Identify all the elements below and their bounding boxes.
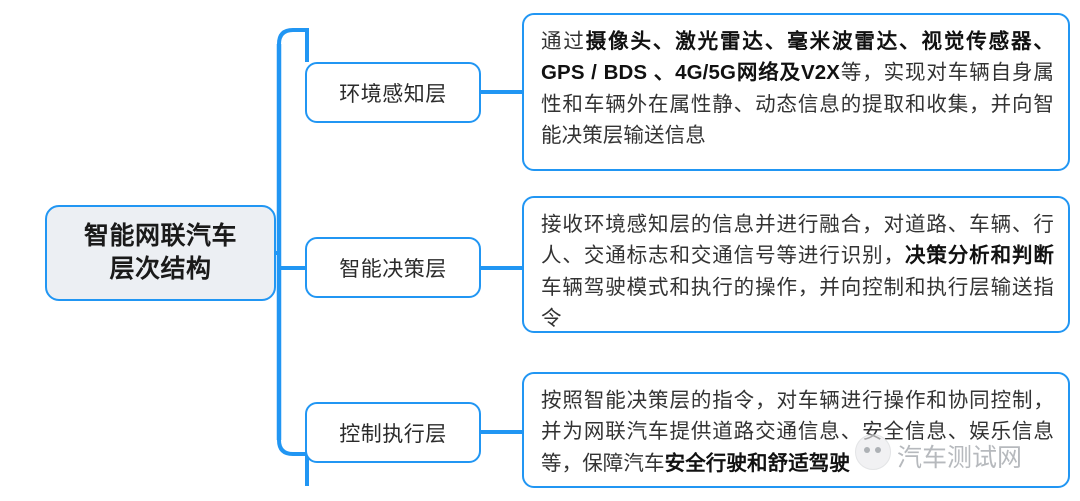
mindmap-canvas: 智能网联汽车层次结构 环境感知层 智能决策层 控制执行层 通过摄像头、激光雷达、… <box>0 0 1080 501</box>
description-box-control[interactable]: 按照智能决策层的指令，对车辆进行操作和协同控制，并为网联汽车提供道路交通信息、安… <box>522 372 1070 488</box>
description-text: 按照智能决策层的指令，对车辆进行操作和协同控制，并为网联汽车提供道路交通信息、安… <box>541 385 1054 479</box>
layer-node-control[interactable]: 控制执行层 <box>305 402 481 463</box>
description-text: 接收环境感知层的信息并进行融合，对道路、车辆、行人、交通标志和交通信号等进行识别… <box>541 209 1054 334</box>
root-node-label: 智能网联汽车层次结构 <box>84 220 237 286</box>
layer-node-label: 环境感知层 <box>339 78 447 108</box>
layer-node-label: 智能决策层 <box>339 253 447 283</box>
layer-node-perception[interactable]: 环境感知层 <box>305 62 481 123</box>
layer-node-label: 控制执行层 <box>339 418 447 448</box>
description-text: 通过摄像头、激光雷达、毫米波雷达、视觉传感器、 GPS / BDS 、4G/5G… <box>541 26 1054 151</box>
description-box-decision[interactable]: 接收环境感知层的信息并进行融合，对道路、车辆、行人、交通标志和交通信号等进行识别… <box>522 196 1070 333</box>
layer-node-decision[interactable]: 智能决策层 <box>305 237 481 298</box>
description-box-perception[interactable]: 通过摄像头、激光雷达、毫米波雷达、视觉传感器、 GPS / BDS 、4G/5G… <box>522 13 1070 171</box>
root-node[interactable]: 智能网联汽车层次结构 <box>45 205 276 301</box>
